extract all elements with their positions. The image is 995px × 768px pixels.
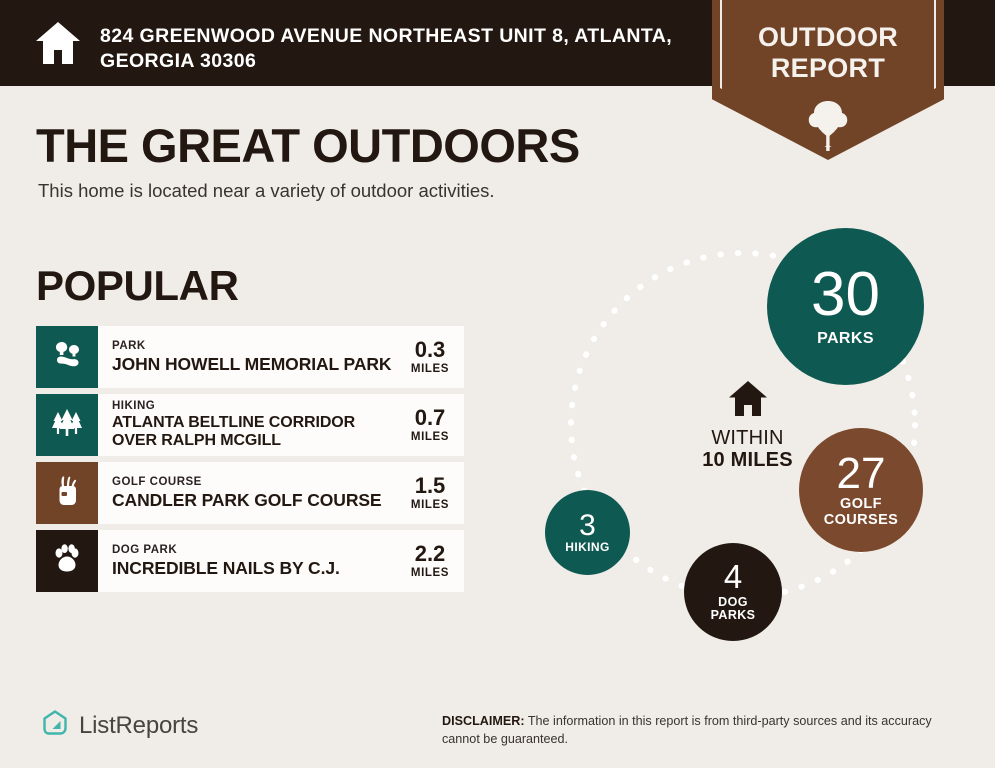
bubble-hiking-label: HIKING	[565, 541, 609, 554]
list-item-text: DOG PARK INCREDIBLE NAILS BY C.J.	[112, 544, 340, 577]
list-item-body: HIKING ATLANTA BELTLINE CORRIDOR OVER RA…	[98, 394, 464, 456]
list-item-category: HIKING	[112, 400, 398, 412]
listreports-logo-text: ListReports	[79, 712, 198, 740]
list-item[interactable]: HIKING ATLANTA BELTLINE CORRIDOR OVER RA…	[36, 394, 464, 456]
list-item-text: PARK JOHN HOWELL MEMORIAL PARK	[112, 340, 391, 373]
distance-value: 1.5	[406, 475, 454, 497]
outdoor-report-badge: OUTDOOR REPORT	[712, 0, 944, 160]
distance-value: 0.3	[406, 339, 454, 361]
golf-bag-icon	[51, 474, 83, 513]
list-item-text: GOLF COURSE CANDLER PARK GOLF COURSE	[112, 476, 382, 509]
list-item-icon-tile	[36, 462, 98, 524]
list-item-body: PARK JOHN HOWELL MEMORIAL PARK 0.3 MILES	[98, 326, 464, 388]
bubble-dog-label-line1: DOG	[718, 595, 748, 609]
bubble-dog-parks[interactable]: 4 DOG PARKS	[684, 543, 782, 641]
distance-unit: MILES	[406, 431, 454, 443]
bubble-golf-value: 27	[837, 452, 886, 495]
badge-title: OUTDOOR REPORT	[712, 22, 944, 84]
popular-heading: POPULAR	[36, 262, 239, 310]
list-item-category: PARK	[112, 340, 391, 352]
bubble-hiking-value: 3	[579, 511, 596, 540]
distance-unit: MILES	[406, 363, 454, 375]
list-item-distance: 0.7 MILES	[406, 407, 454, 443]
distance-unit: MILES	[406, 499, 454, 511]
popular-list: PARK JOHN HOWELL MEMORIAL PARK 0.3 MILES	[36, 326, 464, 598]
list-item-body: DOG PARK INCREDIBLE NAILS BY C.J. 2.2 MI…	[98, 530, 464, 592]
tree-icon	[805, 98, 851, 157]
distance-value: 0.7	[406, 407, 454, 429]
list-item-name: ATLANTA BELTLINE CORRIDOR OVER RALPH MCG…	[112, 414, 398, 450]
listreports-house-tag-icon	[40, 708, 70, 743]
list-item[interactable]: DOG PARK INCREDIBLE NAILS BY C.J. 2.2 MI…	[36, 530, 464, 592]
list-item-category: GOLF COURSE	[112, 476, 382, 488]
list-item-name: JOHN HOWELL MEMORIAL PARK	[112, 355, 391, 374]
bubble-dog-value: 4	[724, 561, 742, 593]
bubble-golf-label: GOLF COURSES	[824, 497, 899, 528]
bubble-parks-value: 30	[811, 265, 880, 326]
list-item-text: HIKING ATLANTA BELTLINE CORRIDOR OVER RA…	[112, 400, 398, 450]
list-item-name: CANDLER PARK GOLF COURSE	[112, 491, 382, 510]
list-item-distance: 2.2 MILES	[406, 543, 454, 579]
header-address: 824 GREENWOOD AVENUE NORTHEAST UNIT 8, A…	[100, 20, 694, 73]
distance-unit: MILES	[406, 567, 454, 579]
list-item-icon-tile	[36, 326, 98, 388]
page-title: THE GREAT OUTDOORS	[36, 118, 580, 173]
list-item-body: GOLF COURSE CANDLER PARK GOLF COURSE 1.5…	[98, 462, 464, 524]
bubble-golf-label-line1: GOLF	[840, 496, 882, 512]
within-10-miles-chart: 30 PARKS 27 GOLF COURSES 4 DOG PARKS 3 H…	[530, 225, 995, 655]
home-icon	[34, 20, 82, 66]
bubble-golf-label-line2: COURSES	[824, 512, 899, 528]
bubble-hiking[interactable]: 3 HIKING	[545, 490, 630, 575]
header-address-block: 824 GREENWOOD AVENUE NORTHEAST UNIT 8, A…	[34, 20, 694, 73]
list-item-icon-tile	[36, 394, 98, 456]
disclaimer: DISCLAIMER: The information in this repo…	[442, 712, 957, 749]
listreports-logo[interactable]: ListReports	[40, 708, 198, 743]
bubble-dog-label-line2: PARKS	[711, 608, 756, 622]
pine-trees-icon	[50, 406, 84, 445]
disclaimer-label: DISCLAIMER:	[442, 714, 525, 728]
list-item[interactable]: GOLF COURSE CANDLER PARK GOLF COURSE 1.5…	[36, 462, 464, 524]
list-item[interactable]: PARK JOHN HOWELL MEMORIAL PARK 0.3 MILES	[36, 326, 464, 388]
list-item-distance: 1.5 MILES	[406, 475, 454, 511]
distance-value: 2.2	[406, 543, 454, 565]
bubble-dog-label: DOG PARKS	[711, 596, 756, 623]
list-item-icon-tile	[36, 530, 98, 592]
list-item-distance: 0.3 MILES	[406, 339, 454, 375]
home-icon	[660, 380, 835, 423]
chart-center-line1: WITHIN	[660, 427, 835, 450]
badge-title-line2: REPORT	[712, 53, 944, 84]
park-trees-icon	[50, 338, 84, 377]
badge-title-line1: OUTDOOR	[712, 22, 944, 53]
paw-print-icon	[50, 542, 84, 581]
chart-center-label: WITHIN 10 MILES	[660, 380, 835, 472]
list-item-category: DOG PARK	[112, 544, 340, 556]
chart-center-line2: 10 MILES	[660, 449, 835, 472]
bubble-parks[interactable]: 30 PARKS	[767, 228, 924, 385]
bubble-parks-label: PARKS	[817, 330, 874, 347]
page-subtitle: This home is located near a variety of o…	[38, 180, 495, 202]
list-item-name: INCREDIBLE NAILS BY C.J.	[112, 559, 340, 578]
